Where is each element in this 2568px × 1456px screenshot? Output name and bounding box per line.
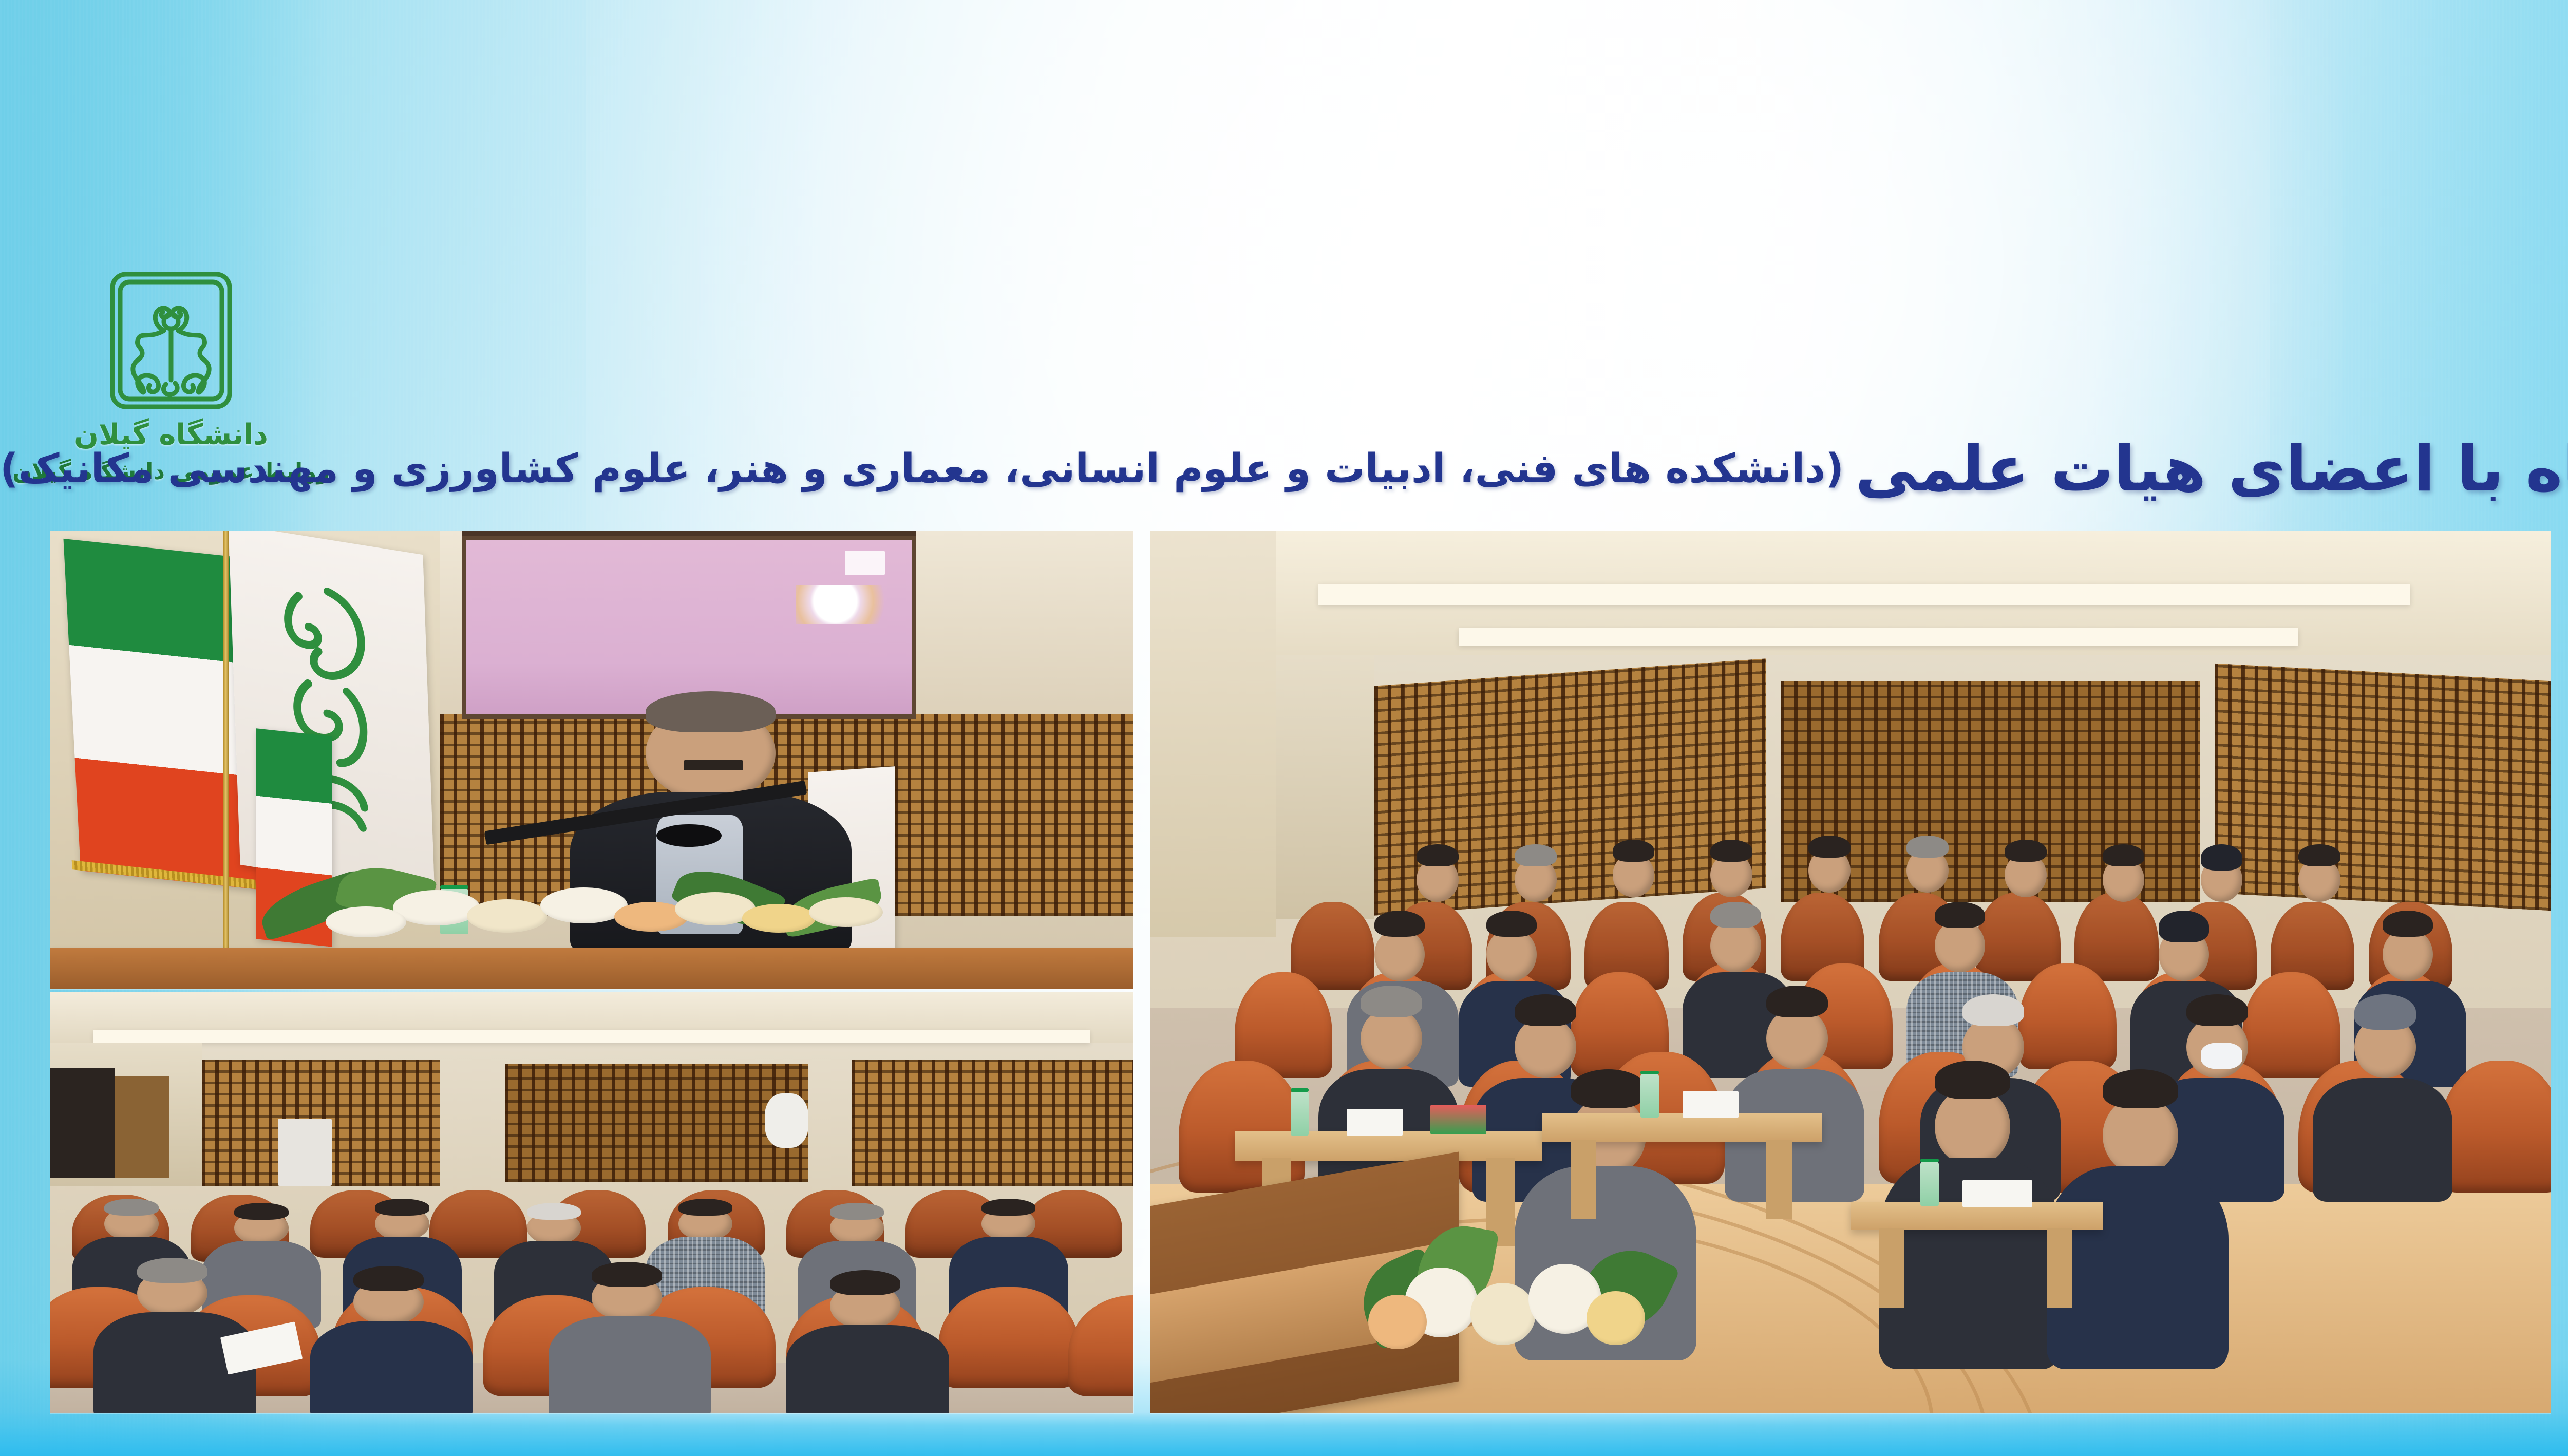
photo-column-left	[50, 531, 1133, 1413]
photo-speaker-podium	[50, 531, 1133, 989]
photo-column-center	[1150, 531, 2551, 1413]
photo-collage-grid	[50, 531, 2568, 1413]
photo-audience-left-rows	[50, 992, 1133, 1413]
photo-hall-wide	[1150, 531, 2551, 1413]
column-gap-right	[2551, 531, 2568, 1413]
bottom-color-band	[0, 1412, 2568, 1456]
headline-main-title: نشست هم اندیشی رئیس دانشگاه با اعضای هیا…	[1855, 438, 2568, 500]
headline-subtitle: (دانشکده های فنی، ادبیات و علوم انسانی، …	[0, 449, 1844, 489]
column-gap-left	[1133, 531, 1150, 1413]
banner-headline: نشست هم اندیشی رئیس دانشگاه با اعضای هیا…	[0, 420, 2568, 518]
university-of-guilan-emblem-icon	[104, 267, 238, 421]
event-banner: دانشگاه گیلان روابط عمومی دانشگاه گیلان …	[0, 0, 2568, 1456]
